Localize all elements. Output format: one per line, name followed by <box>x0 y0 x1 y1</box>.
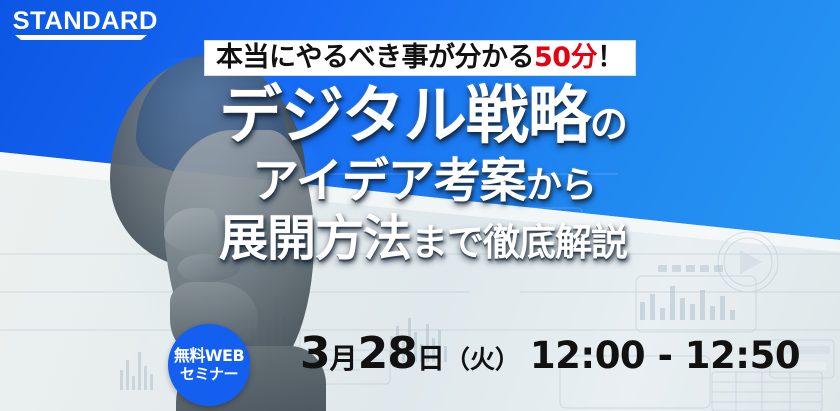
kicker-band: 本当にやるべき事が分かる50分！ <box>204 40 636 76</box>
kicker-highlight: 50分 <box>534 42 597 73</box>
kicker-text-before: 本当にやるべき事が分かる <box>216 42 534 73</box>
schedule-time: 12:00 - 12:50 <box>530 334 800 377</box>
standard-logo[interactable]: STANDARD <box>14 8 150 42</box>
seminar-banner: STANDARD 本当にやるべき事が分かる50分！ デジタル戦略の アイデア考案… <box>0 0 840 411</box>
schedule-month: 3 <box>300 328 330 379</box>
badge-line-1: 無料WEB <box>174 346 244 365</box>
kicker-text-after: ！ <box>597 42 624 73</box>
schedule-weekday: （火） <box>445 345 520 374</box>
schedule-datetime: 3月28日（火）12:00 - 12:50 <box>300 332 800 376</box>
schedule-day: 28 <box>358 328 417 379</box>
logo-wordmark: STANDARD <box>13 8 152 34</box>
logo-underline-bar <box>15 35 147 40</box>
free-web-seminar-badge: 無料WEB セミナー <box>168 324 250 406</box>
schedule-day-unit: 日 <box>417 342 445 375</box>
schedule-month-unit: 月 <box>330 342 358 375</box>
badge-line-2: セミナー <box>180 365 238 384</box>
